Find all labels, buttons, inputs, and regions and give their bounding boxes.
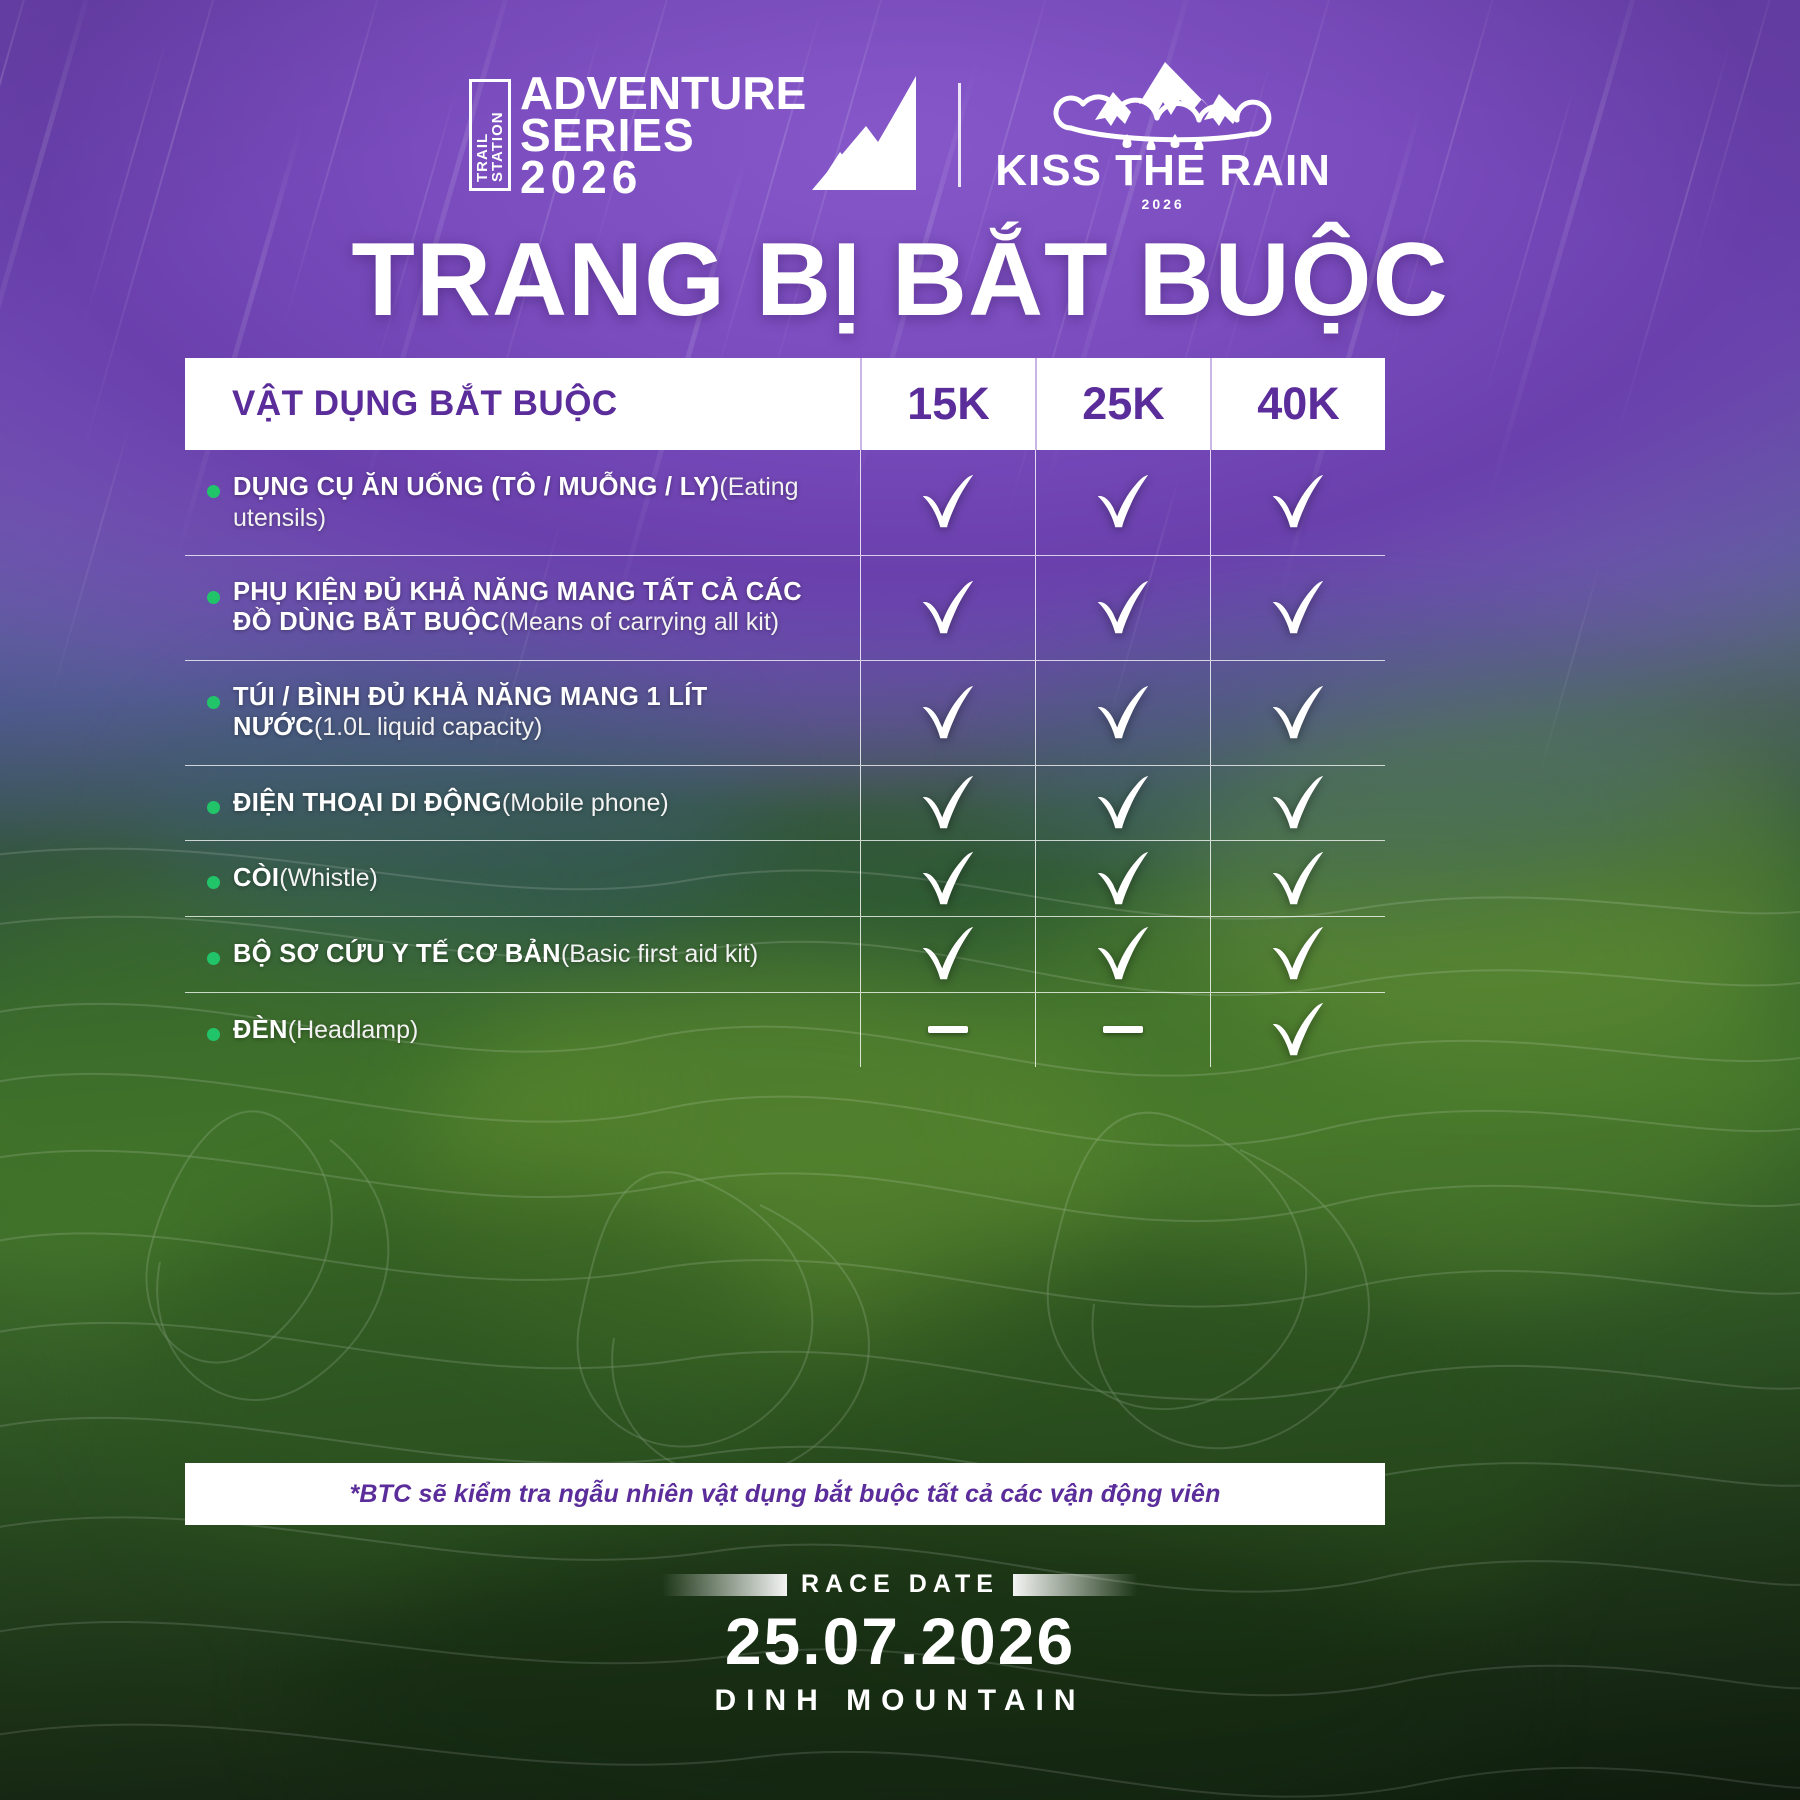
table-row: DỤNG CỤ ĂN UỐNG (TÔ / MUỖNG / LY)(Eating… — [185, 450, 1385, 556]
logo-line-adventure: ADVENTURE — [520, 72, 806, 114]
gear-item-cell: PHỤ KIỆN ĐỦ KHẢ NĂNG MANG TẤT CẢ CÁC ĐỒ … — [185, 556, 860, 660]
gear-item-vi: ĐÈN — [233, 1016, 288, 1044]
table-row: ĐIỆN THOẠI DI ĐỘNG(Mobile phone) — [185, 766, 1385, 842]
gear-item-vi: BỘ SƠ CỨU Y TẾ CƠ BẢN — [233, 940, 561, 968]
page-title: TRANG BỊ BẮT BUỘC — [0, 228, 1800, 332]
mark-cell-check — [1035, 450, 1210, 555]
gear-item-cell: TÚI / BÌNH ĐỦ KHẢ NĂNG MANG 1 LÍT NƯỚC(1… — [185, 661, 860, 765]
mark-cell-check — [1210, 841, 1385, 916]
table-row: PHỤ KIỆN ĐỦ KHẢ NĂNG MANG TẤT CẢ CÁC ĐỒ … — [185, 556, 1385, 661]
check-icon — [1092, 471, 1154, 533]
mountain-cloud-rain-icon — [1047, 58, 1279, 155]
check-icon — [917, 471, 979, 533]
mark-cell-check — [860, 917, 1035, 992]
check-icon — [1267, 999, 1329, 1061]
mark-cell-check — [1035, 556, 1210, 660]
check-icon — [1267, 848, 1329, 910]
mark-cell-check — [860, 556, 1035, 660]
check-icon — [1267, 772, 1329, 834]
check-icon — [1092, 848, 1154, 910]
logo-line-series: SERIES — [520, 114, 806, 156]
poster-canvas: TRAIL STATION ADVENTURE SERIES 2026 — [0, 0, 1800, 1800]
bullet-dot-icon — [207, 801, 220, 814]
check-icon — [917, 682, 979, 744]
gear-item-cell: ĐIỆN THOẠI DI ĐỘNG(Mobile phone) — [185, 766, 860, 841]
check-icon — [1092, 772, 1154, 834]
table-row: TÚI / BÌNH ĐỦ KHẢ NĂNG MANG 1 LÍT NƯỚC(1… — [185, 661, 1385, 766]
column-header-25k: 25K — [1035, 358, 1210, 450]
note-text: *BTC sẽ kiểm tra ngẫu nhiên vật dụng bắt… — [349, 1480, 1220, 1509]
check-icon — [917, 772, 979, 834]
check-icon — [1092, 577, 1154, 639]
mandatory-gear-table: VẬT DỤNG BẮT BUỘC 15K 25K 40K DỤNG CỤ ĂN… — [185, 358, 1385, 1067]
mark-cell-check — [1210, 917, 1385, 992]
table-header-row: VẬT DỤNG BẮT BUỘC 15K 25K 40K — [185, 358, 1385, 450]
logo-bar: TRAIL STATION ADVENTURE SERIES 2026 — [0, 58, 1800, 212]
bullet-dot-icon — [207, 485, 220, 498]
table-row: ĐÈN(Headlamp) — [185, 993, 1385, 1068]
mark-cell-dash — [1035, 993, 1210, 1068]
logo-divider — [958, 83, 961, 187]
bullet-dot-icon — [207, 696, 220, 709]
mark-cell-check — [1035, 917, 1210, 992]
bullet-dot-icon — [207, 1028, 220, 1041]
check-icon — [917, 848, 979, 910]
race-date-value: 25.07.2026 — [0, 1605, 1800, 1678]
race-date-block: RACE DATE 25.07.2026 DINH MOUNTAIN — [0, 1570, 1800, 1718]
gear-item-en: (Mobile phone) — [502, 789, 669, 817]
adventure-series-logo: TRAIL STATION ADVENTURE SERIES 2026 — [469, 72, 924, 199]
table-body: DỤNG CỤ ĂN UỐNG (TÔ / MUỖNG / LY)(Eating… — [185, 450, 1385, 1067]
mark-cell-check — [1210, 450, 1385, 555]
mark-cell-check — [1210, 661, 1385, 765]
bullet-dot-icon — [207, 591, 220, 604]
mark-cell-check — [860, 841, 1035, 916]
gear-item-en: (Whistle) — [279, 864, 378, 892]
mountain-peaks-icon — [804, 74, 924, 197]
dash-icon — [1103, 1026, 1143, 1033]
mark-cell-check — [860, 450, 1035, 555]
bullet-dot-icon — [207, 876, 220, 889]
mark-cell-check — [1210, 766, 1385, 841]
kiss-the-rain-year: 2026 — [1142, 196, 1185, 212]
bullet-dot-icon — [207, 952, 220, 965]
gear-item-cell: BỘ SƠ CỨU Y TẾ CƠ BẢN(Basic first aid ki… — [185, 917, 860, 992]
table-row: BỘ SƠ CỨU Y TẾ CƠ BẢN(Basic first aid ki… — [185, 917, 1385, 993]
mark-cell-check — [1210, 993, 1385, 1068]
random-check-note: *BTC sẽ kiểm tra ngẫu nhiên vật dụng bắt… — [185, 1463, 1385, 1525]
gear-item-cell: ĐÈN(Headlamp) — [185, 993, 860, 1068]
check-icon — [1267, 682, 1329, 744]
column-header-item: VẬT DỤNG BẮT BUỘC — [185, 358, 860, 450]
column-header-15k: 15K — [860, 358, 1035, 450]
check-icon — [917, 577, 979, 639]
mark-cell-check — [860, 661, 1035, 765]
race-location: DINH MOUNTAIN — [0, 1684, 1800, 1718]
mark-cell-check — [860, 766, 1035, 841]
kiss-the-rain-wordmark: KISS THE RAIN — [995, 149, 1331, 193]
check-icon — [917, 923, 979, 985]
check-icon — [1092, 682, 1154, 744]
gear-item-en: (1.0L liquid capacity) — [314, 713, 542, 741]
race-date-label: RACE DATE — [801, 1570, 999, 1599]
gear-item-vi: CÒI — [233, 864, 279, 892]
table-row: CÒI(Whistle) — [185, 841, 1385, 917]
mark-cell-check — [1210, 556, 1385, 660]
gear-item-en: (Means of carrying all kit) — [500, 608, 779, 636]
check-icon — [1267, 923, 1329, 985]
mark-cell-check — [1035, 661, 1210, 765]
mark-cell-check — [1035, 841, 1210, 916]
race-label-bar-right — [1013, 1574, 1138, 1596]
gear-item-vi: ĐIỆN THOẠI DI ĐỘNG — [233, 789, 502, 817]
mark-cell-dash — [860, 993, 1035, 1068]
check-icon — [1267, 471, 1329, 533]
gear-item-cell: DỤNG CỤ ĂN UỐNG (TÔ / MUỖNG / LY)(Eating… — [185, 450, 860, 555]
logo-line-year: 2026 — [520, 156, 806, 198]
gear-item-vi: DỤNG CỤ ĂN UỐNG (TÔ / MUỖNG / LY) — [233, 473, 719, 501]
dash-icon — [928, 1026, 968, 1033]
gear-item-en: (Headlamp) — [288, 1016, 419, 1044]
mark-cell-check — [1035, 766, 1210, 841]
check-icon — [1092, 923, 1154, 985]
adventure-series-wordmark: ADVENTURE SERIES 2026 — [520, 72, 806, 199]
gear-item-en: (Basic first aid kit) — [561, 940, 758, 968]
check-icon — [1267, 577, 1329, 639]
race-label-bar-left — [662, 1574, 787, 1596]
kiss-the-rain-logo: KISS THE RAIN 2026 — [995, 58, 1331, 212]
trail-station-label: TRAIL STATION — [469, 79, 511, 191]
gear-item-cell: CÒI(Whistle) — [185, 841, 860, 916]
column-header-40k: 40K — [1210, 358, 1385, 450]
